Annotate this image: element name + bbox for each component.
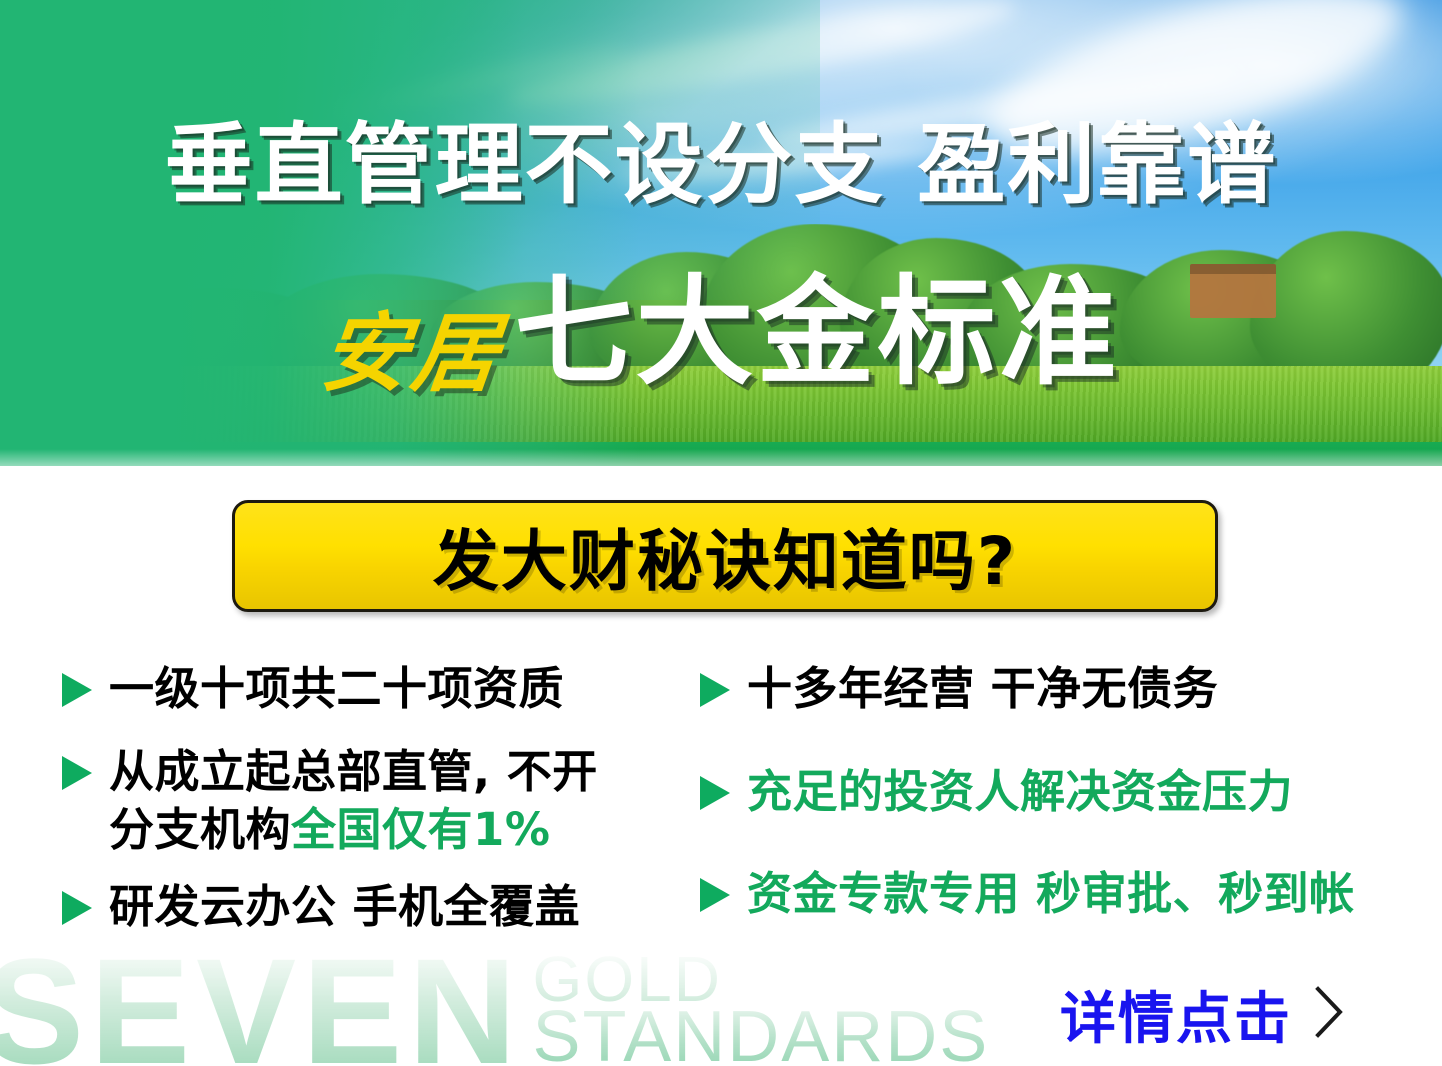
triangle-bullet-icon xyxy=(700,673,730,707)
list-item-line-1: 从成立起总部直管, 不开 xyxy=(109,743,598,802)
list-item-label: 研发云办公 手机全覆盖 xyxy=(109,878,580,937)
triangle-bullet-icon xyxy=(62,673,92,707)
list-item: 一级十项共二十项资质 xyxy=(62,660,702,719)
list-item-label: 从成立起总部直管, 不开 分支机构全国仅有1% xyxy=(109,743,598,860)
hero-subheadline-main: 七大金标准 xyxy=(514,272,1119,392)
feature-column-left: 一级十项共二十项资质 从成立起总部直管, 不开 分支机构全国仅有1% 研发云办公… xyxy=(62,660,702,946)
hero-banner: 垂直管理不设分支 盈利靠谱 安居七大金标准 xyxy=(0,0,1442,466)
list-item-highlight: 全国仅有1% xyxy=(291,803,550,856)
hero-subheadline: 安居七大金标准 xyxy=(0,272,1442,399)
triangle-bullet-icon xyxy=(700,776,730,810)
list-item: 十多年经营 干净无债务 xyxy=(700,660,1410,719)
highlight-banner-text: 发大财秘诀知道吗? xyxy=(433,508,1017,604)
brand-name: 安居 xyxy=(318,311,507,399)
feature-list: 一级十项共二十项资质 从成立起总部直管, 不开 分支机构全国仅有1% 研发云办公… xyxy=(0,660,1442,980)
triangle-bullet-icon xyxy=(700,878,730,912)
details-cta-link[interactable]: 详情点击 xyxy=(1060,974,1348,1055)
highlight-banner: 发大财秘诀知道吗? xyxy=(232,500,1218,612)
chevron-right-icon xyxy=(1310,983,1348,1046)
list-item-line-2: 分支机构全国仅有1% xyxy=(109,801,598,860)
list-item: 充足的投资人解决资金压力 xyxy=(700,763,1410,822)
watermark-standards: STANDARDS xyxy=(533,1007,990,1066)
list-item-label: 资金专款专用 秒审批、秒到帐 xyxy=(747,865,1355,924)
list-item: 从成立起总部直管, 不开 分支机构全国仅有1% xyxy=(62,743,702,860)
list-item-label: 充足的投资人解决资金压力 xyxy=(747,763,1293,822)
promo-poster: 垂直管理不设分支 盈利靠谱 安居七大金标准 发大财秘诀知道吗? 一级十项共二十项… xyxy=(0,0,1442,1066)
triangle-bullet-icon xyxy=(62,891,92,925)
list-item: 研发云办公 手机全覆盖 xyxy=(62,878,702,937)
triangle-bullet-icon xyxy=(62,756,92,790)
list-item: 资金专款专用 秒审批、秒到帐 xyxy=(700,865,1410,924)
hero-headline: 垂直管理不设分支 盈利靠谱 xyxy=(0,120,1442,210)
list-item-label: 十多年经营 干净无债务 xyxy=(747,660,1218,719)
details-cta-label: 详情点击 xyxy=(1060,974,1292,1055)
list-item-line-2-plain: 分支机构 xyxy=(109,803,291,856)
feature-column-right: 十多年经营 干净无债务 充足的投资人解决资金压力 资金专款专用 秒审批、秒到帐 xyxy=(700,660,1410,968)
list-item-label: 一级十项共二十项资质 xyxy=(109,660,564,719)
hero-bottom-fade xyxy=(0,449,1442,466)
